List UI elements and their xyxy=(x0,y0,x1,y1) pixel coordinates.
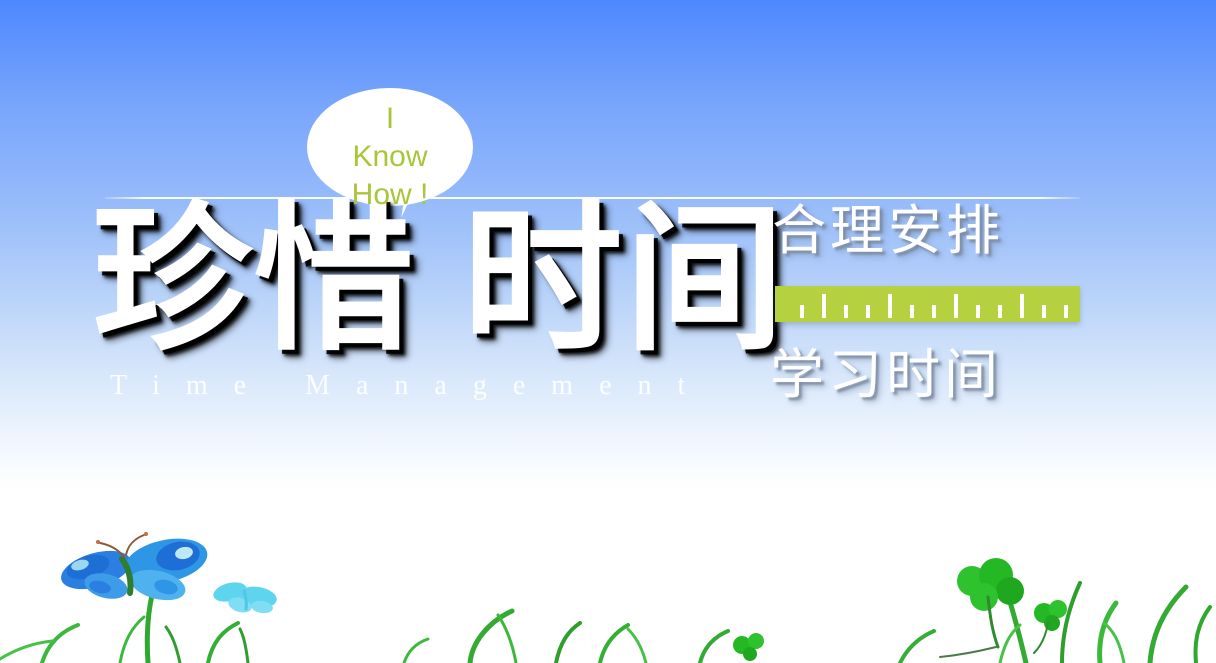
ruler-graphic xyxy=(775,286,1080,322)
clover-small-icon xyxy=(733,633,764,661)
butterfly-small-icon xyxy=(211,579,278,615)
speech-bubble-text: I Know How ! xyxy=(307,100,473,214)
ruler-tick-major xyxy=(954,294,958,318)
subtitle-english: Time Management xyxy=(110,370,711,402)
main-title: 珍惜 时间 xyxy=(92,192,786,368)
ruler-tick-minor xyxy=(866,305,870,318)
ruler-tick-minor xyxy=(844,305,848,318)
speech-bubble: I Know How ! xyxy=(307,88,473,223)
ruler-tick-minor xyxy=(976,305,980,318)
ruler-tick-minor xyxy=(910,305,914,318)
ruler-tick-minor xyxy=(1064,305,1068,318)
ruler-tick-minor xyxy=(998,305,1002,318)
ruler-tick-minor xyxy=(1042,305,1046,318)
grass-left xyxy=(0,595,248,663)
right-panel: 合理安排 学习时间 xyxy=(770,196,1090,411)
ruler-tick-major xyxy=(1020,294,1024,318)
ruler-tick-major xyxy=(888,294,892,318)
ruler-tick-minor xyxy=(932,305,936,318)
bottom-decoration xyxy=(0,523,1216,663)
slide-canvas: I Know How ! 珍惜 时间 Time Management 合理安排 … xyxy=(0,0,1216,663)
clover-large-icon xyxy=(940,558,1067,657)
right-panel-line-top: 合理安排 xyxy=(772,200,1004,262)
ruler-tick-major xyxy=(822,294,826,318)
grass-middle xyxy=(404,611,728,663)
grass-right xyxy=(900,583,1210,663)
ruler-tick-minor xyxy=(800,305,804,318)
right-panel-line-bottom: 学习时间 xyxy=(770,344,1002,406)
butterfly-large-icon xyxy=(57,532,212,606)
